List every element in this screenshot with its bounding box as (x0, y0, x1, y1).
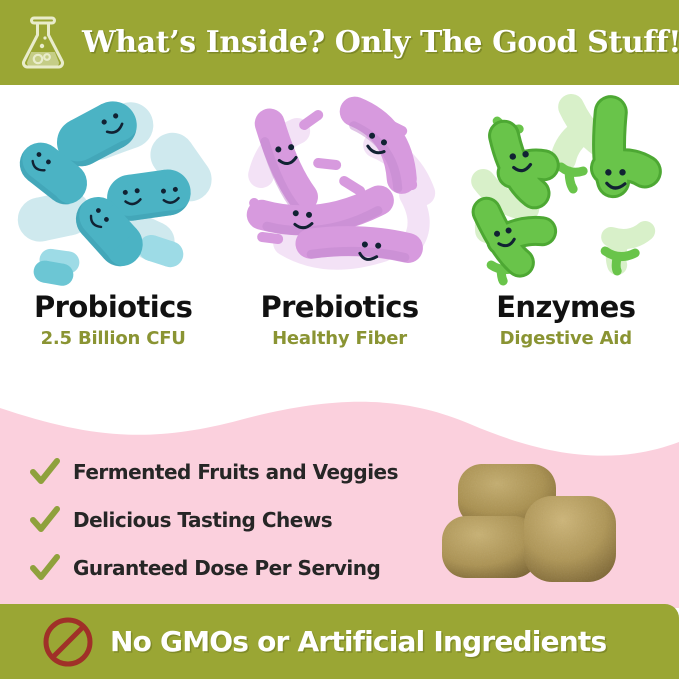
column-title-prebiotics: Prebiotics (260, 292, 418, 322)
column-title-probiotics: Probiotics (34, 292, 192, 322)
header-band: What’s Inside? Only The Good Stuff! (0, 0, 679, 85)
prebiotic-fiber-rods-illustration (226, 85, 452, 290)
check-icon (30, 458, 60, 486)
flask-icon (14, 12, 72, 74)
list-item: Fermented Fruits and Veggies (30, 458, 430, 486)
column-enzymes: Enzymes Digestive Aid (453, 85, 679, 385)
footer-title: No GMOs or Artificial Ingredients (110, 625, 606, 658)
soft-chews-photo (440, 450, 655, 590)
infographic-root: What’s Inside? Only The Good Stuff! (0, 0, 679, 679)
header-title: What’s Inside? Only The Good Stuff! (82, 25, 679, 60)
list-item: Guranteed Dose Per Serving (30, 554, 430, 582)
benefit-label: Guranteed Dose Per Serving (73, 556, 380, 580)
benefit-label: Fermented Fruits and Veggies (73, 460, 398, 484)
check-icon (30, 554, 60, 582)
probiotic-bacteria-illustration (0, 85, 226, 290)
no-prohibition-icon (42, 616, 94, 668)
benefits-list: Fermented Fruits and Veggies Delicious T… (0, 440, 430, 600)
column-subtitle-probiotics: 2.5 Billion CFU (41, 328, 186, 349)
footer-band: No GMOs or Artificial Ingredients (0, 604, 679, 679)
column-probiotics: Probiotics 2.5 Billion CFU (0, 85, 226, 385)
benefit-label: Delicious Tasting Chews (73, 508, 332, 532)
ingredient-columns: Probiotics 2.5 Billion CFU (0, 85, 679, 385)
column-title-enzymes: Enzymes (496, 292, 635, 322)
column-subtitle-enzymes: Digestive Aid (500, 328, 632, 349)
list-item: Delicious Tasting Chews (30, 506, 430, 534)
check-icon (30, 506, 60, 534)
column-prebiotics: Prebiotics Healthy Fiber (226, 85, 452, 385)
digestive-enzyme-illustration (453, 85, 679, 290)
column-subtitle-prebiotics: Healthy Fiber (272, 328, 407, 349)
